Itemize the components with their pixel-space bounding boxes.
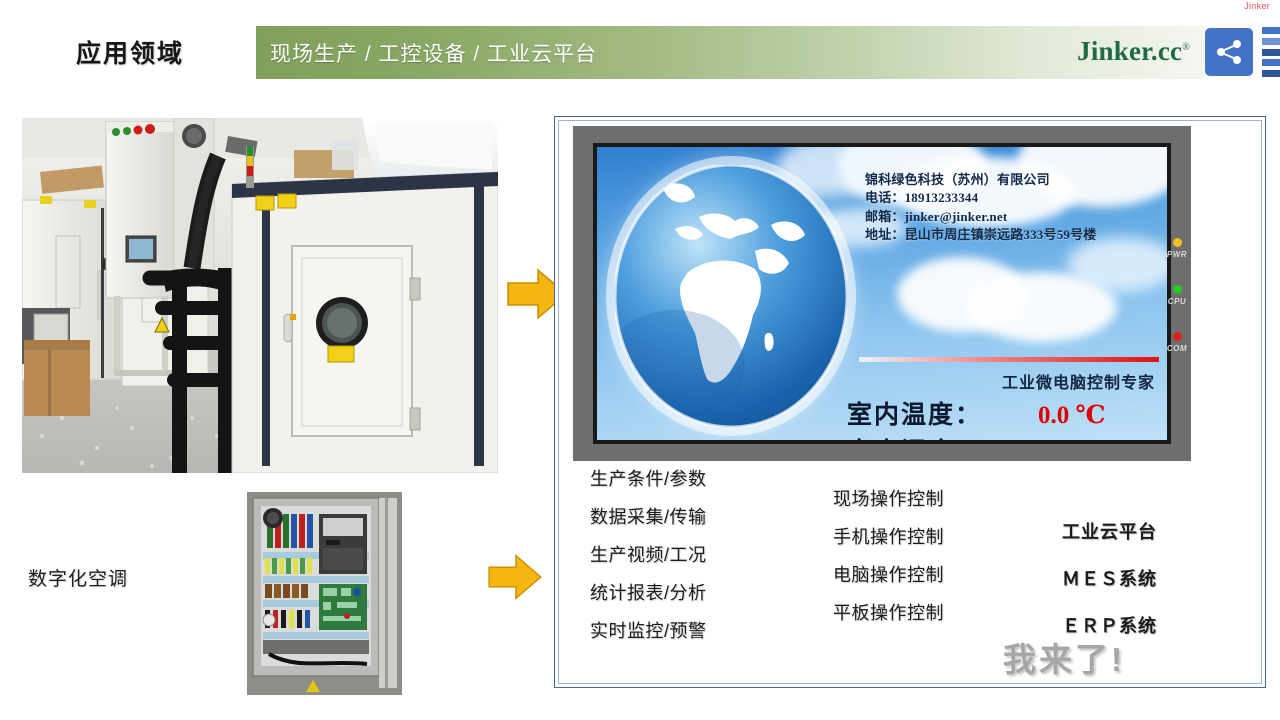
- menu-bar-2: [1262, 38, 1280, 45]
- brand-top-label: Jinker: [1244, 1, 1270, 11]
- menu-bar-3: [1262, 49, 1280, 56]
- com-label: COM: [1160, 344, 1194, 353]
- list-item: 数据采集/传输: [590, 508, 707, 526]
- logo-text: Jinker.cc: [1077, 36, 1182, 66]
- hmi-address: 地址：昆山市周庄镇崇远路333号59号楼: [865, 226, 1097, 244]
- list-column-b: 现场操作控制 手机操作控制 电脑操作控制 平板操作控制: [833, 490, 944, 642]
- pwr-led-icon: [1173, 238, 1182, 247]
- share-button[interactable]: [1205, 28, 1253, 76]
- hmi-temperature-row: 室内温度：0.0 ℃: [847, 395, 1105, 431]
- hmi-email: 邮箱：jinker@jinker.net: [865, 208, 1097, 226]
- menu-bar-5: [1262, 70, 1280, 77]
- list-item: 现场操作控制: [833, 490, 944, 508]
- list-item: ＭＥＳ系统: [1062, 565, 1157, 591]
- list-item: 电脑操作控制: [833, 566, 944, 584]
- hmi-monitor: 锦科绿色科技（苏州）有限公司 电话：18913233344 邮箱：jinker@…: [573, 126, 1191, 461]
- led-indicator-group: PWR CPU COM: [1160, 238, 1194, 379]
- list-item: 平板操作控制: [833, 604, 944, 622]
- arrow-label-to-list: [487, 552, 543, 602]
- list-item: 统计报表/分析: [590, 584, 707, 602]
- hmi-phone: 电话：18913233344: [865, 189, 1097, 207]
- hmi-temperature-label: 室内温度：: [847, 402, 982, 429]
- hmi-humidity-label: 室内湿度：: [847, 439, 982, 444]
- hmi-humidity-row: 室内湿度：0.0 %: [847, 432, 1101, 444]
- hmi-humidity-value: 0.0 %: [1038, 439, 1101, 444]
- registered-mark: ®: [1182, 42, 1190, 53]
- hmi-slogan: 工业微电脑控制专家: [1002, 369, 1155, 393]
- control-cabinet-photo: [247, 492, 402, 695]
- industrial-equipment-photo: [22, 118, 498, 473]
- hmi-screen[interactable]: 锦科绿色科技（苏州）有限公司 电话：18913233344 邮箱：jinker@…: [593, 143, 1171, 444]
- digital-ac-label: 数字化空调: [28, 564, 128, 591]
- menu-bar-1: [1262, 27, 1280, 34]
- hmi-company-info: 锦科绿色科技（苏州）有限公司 电话：18913233344 邮箱：jinker@…: [865, 171, 1097, 245]
- menu-bar-4: [1262, 59, 1280, 66]
- list-item: 工业云平台: [1062, 518, 1157, 544]
- hmi-temperature-value: 0.0 ℃: [1038, 402, 1105, 429]
- slide-page: Jinker 应用领域 现场生产 / 工控设备 / 工业云平台 Jinker.c…: [0, 0, 1280, 720]
- led-pwr: PWR: [1160, 238, 1194, 259]
- hmi-divider-line: [859, 357, 1159, 362]
- hmi-company-name: 锦科绿色科技（苏州）有限公司: [865, 171, 1097, 189]
- list-item: 手机操作控制: [833, 528, 944, 546]
- pwr-label: PWR: [1160, 250, 1194, 259]
- cpu-led-icon: [1173, 285, 1182, 294]
- list-item: 生产视频/工况: [590, 546, 707, 564]
- cloud-7: [1067, 237, 1171, 292]
- header-bar-title: 现场生产 / 工控设备 / 工业云平台: [270, 38, 597, 68]
- menu-bars-icon[interactable]: [1262, 27, 1280, 77]
- shout-text: 我来了!: [1003, 633, 1125, 681]
- led-com: COM: [1160, 332, 1194, 353]
- list-column-a: 生产条件/参数 数据采集/传输 生产视频/工况 统计报表/分析 实时监控/预警: [590, 470, 707, 660]
- globe-graphic: [615, 165, 847, 427]
- cpu-label: CPU: [1160, 297, 1194, 306]
- com-led-icon: [1173, 332, 1182, 341]
- header-bar: 现场生产 / 工控设备 / 工业云平台 Jinker.cc®: [256, 26, 1204, 79]
- list-item: 生产条件/参数: [590, 470, 707, 488]
- led-cpu: CPU: [1160, 285, 1194, 306]
- page-title: 应用领域: [76, 34, 184, 70]
- list-item: 实时监控/预警: [590, 622, 707, 640]
- jinker-logo: Jinker.cc®: [1077, 36, 1190, 67]
